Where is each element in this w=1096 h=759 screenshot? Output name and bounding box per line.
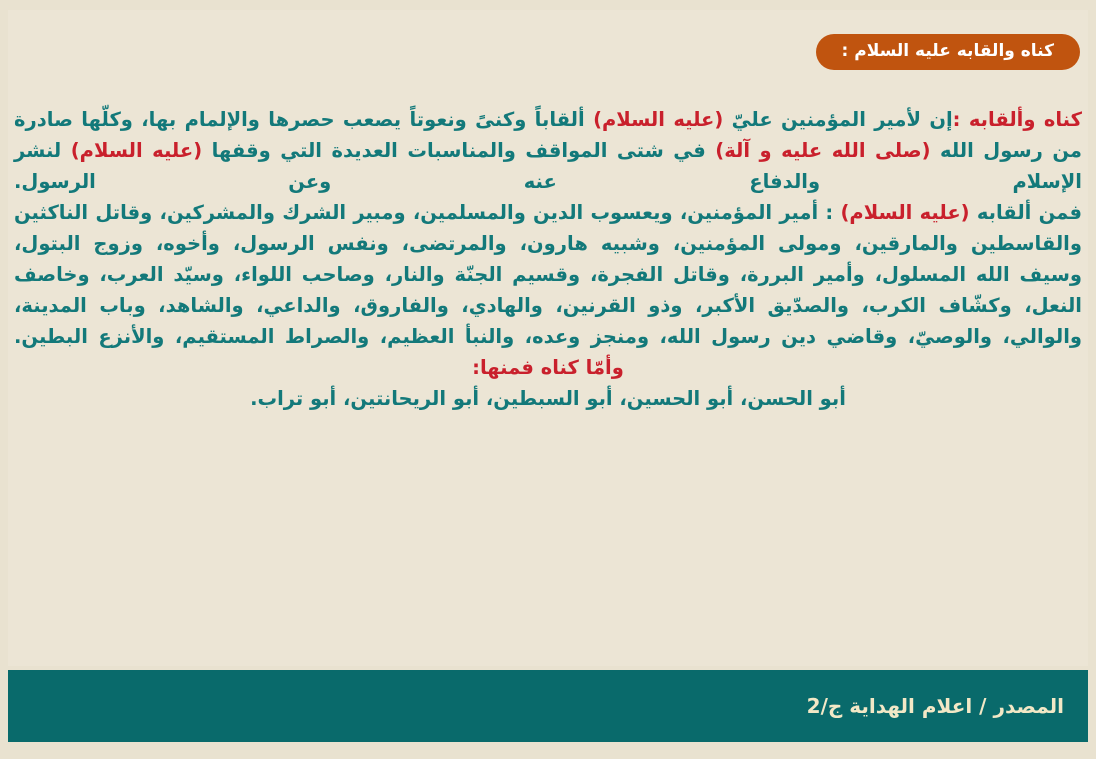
kunya-list: أبو الحسن، أبو الحسين، أبو السبطين، أبو … xyxy=(14,383,1082,414)
document-page: كناه والقابه عليه السلام : كناه وألقابه … xyxy=(0,0,1096,759)
p2-seg-0: فمن ألقابه xyxy=(970,201,1082,224)
p1-seg-1-honorific: (عليه السلام) xyxy=(593,108,723,131)
p1-seg-0: إن لأمير المؤمنين عليّ xyxy=(723,108,952,131)
document-body: كناه وألقابه :إن لأمير المؤمنين عليّ (عل… xyxy=(14,104,1082,414)
source-citation: المصدر / اعلام الهداية ج/2 xyxy=(807,694,1064,718)
p1-seg-4: في شتى المواقف والمناسبات العديدة التي و… xyxy=(202,139,715,162)
kunya-heading: وأمّا كناه فمنها: xyxy=(14,352,1082,383)
p1-seg-5-honorific: (عليه السلام) xyxy=(71,139,202,162)
p1-seg-3-honorific: (صلى الله عليه و آلة) xyxy=(715,139,930,162)
footer-bar: المصدر / اعلام الهداية ج/2 xyxy=(8,670,1088,742)
topic-badge: كناه والقابه عليه السلام : xyxy=(816,34,1080,70)
p2-seg-1-honorific: (عليه السلام) xyxy=(840,201,969,224)
paragraph1-lead-label: كناه وألقابه : xyxy=(953,108,1082,131)
paragraph-epithets-list: فمن ألقابه (عليه السلام) : أمير المؤمنين… xyxy=(14,197,1082,352)
paragraph-titles-and-epithets-intro: كناه وألقابه :إن لأمير المؤمنين عليّ (عل… xyxy=(14,104,1082,197)
